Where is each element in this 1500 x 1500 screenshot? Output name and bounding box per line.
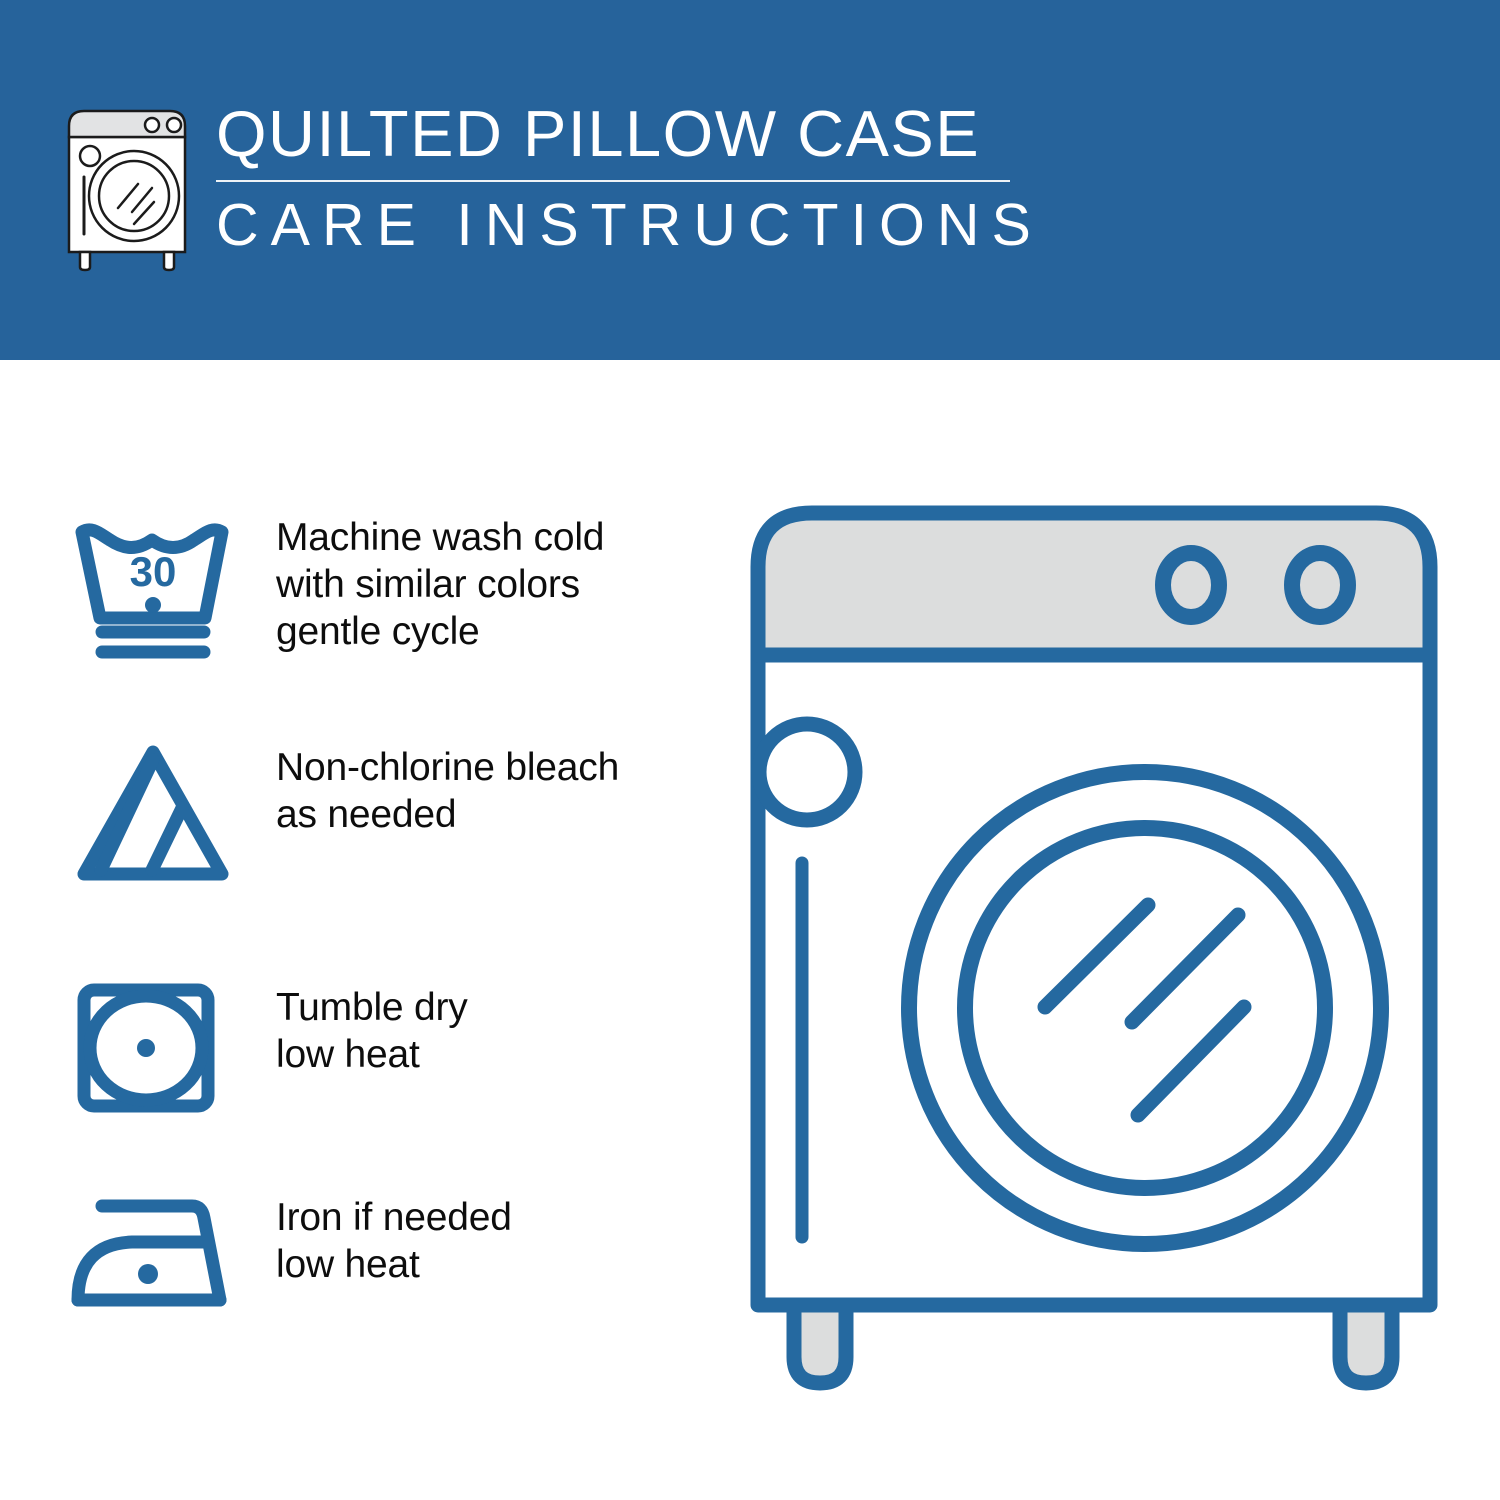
- care-line: low heat: [276, 1241, 512, 1288]
- machine-wash-30-gentle-icon: 30: [70, 508, 240, 668]
- care-line: Tumble dry: [276, 984, 468, 1031]
- knob-left: [1163, 553, 1219, 617]
- page-subtitle: CARE INSTRUCTIONS: [216, 190, 1016, 260]
- washing-machine-illustration: [740, 495, 1450, 1415]
- header-text-block: QUILTED PILLOW CASE CARE INSTRUCTIONS: [216, 96, 1016, 260]
- header-band: QUILTED PILLOW CASE CARE INSTRUCTIONS: [0, 0, 1500, 360]
- care-line: with similar colors: [276, 561, 604, 608]
- care-line: Machine wash cold: [276, 514, 604, 561]
- detergent-dispenser-circle: [759, 724, 855, 820]
- non-chlorine-bleach-icon: [70, 738, 240, 888]
- washing-machine-icon: [62, 104, 192, 272]
- care-row-bleach: Non-chlorine bleach as needed: [0, 738, 720, 888]
- care-instruction-list: 30 Machine wash cold with similar colors…: [0, 360, 720, 1500]
- care-row-tumble-dry: Tumble dry low heat: [0, 978, 720, 1118]
- care-line: gentle cycle: [276, 608, 604, 655]
- care-text-iron: Iron if needed low heat: [276, 1188, 512, 1288]
- title-divider: [216, 180, 1010, 182]
- care-instructions-infographic: QUILTED PILLOW CASE CARE INSTRUCTIONS: [0, 0, 1500, 1500]
- care-text-machine-wash: Machine wash cold with similar colors ge…: [276, 508, 604, 655]
- wash-temperature-label: 30: [130, 548, 177, 595]
- care-line: Iron if needed: [276, 1194, 512, 1241]
- care-line: as needed: [276, 791, 619, 838]
- care-line: Non-chlorine bleach: [276, 744, 619, 791]
- care-text-tumble-dry: Tumble dry low heat: [276, 978, 468, 1078]
- care-row-iron: Iron if needed low heat: [0, 1188, 720, 1318]
- care-row-machine-wash: 30 Machine wash cold with similar colors…: [0, 508, 720, 668]
- tumble-dry-low-icon: [70, 978, 240, 1118]
- iron-low-heat-icon: [70, 1188, 240, 1318]
- care-line: low heat: [276, 1031, 468, 1078]
- page-title: QUILTED PILLOW CASE: [216, 96, 1016, 172]
- care-text-bleach: Non-chlorine bleach as needed: [276, 738, 619, 838]
- knob-right: [1292, 553, 1348, 617]
